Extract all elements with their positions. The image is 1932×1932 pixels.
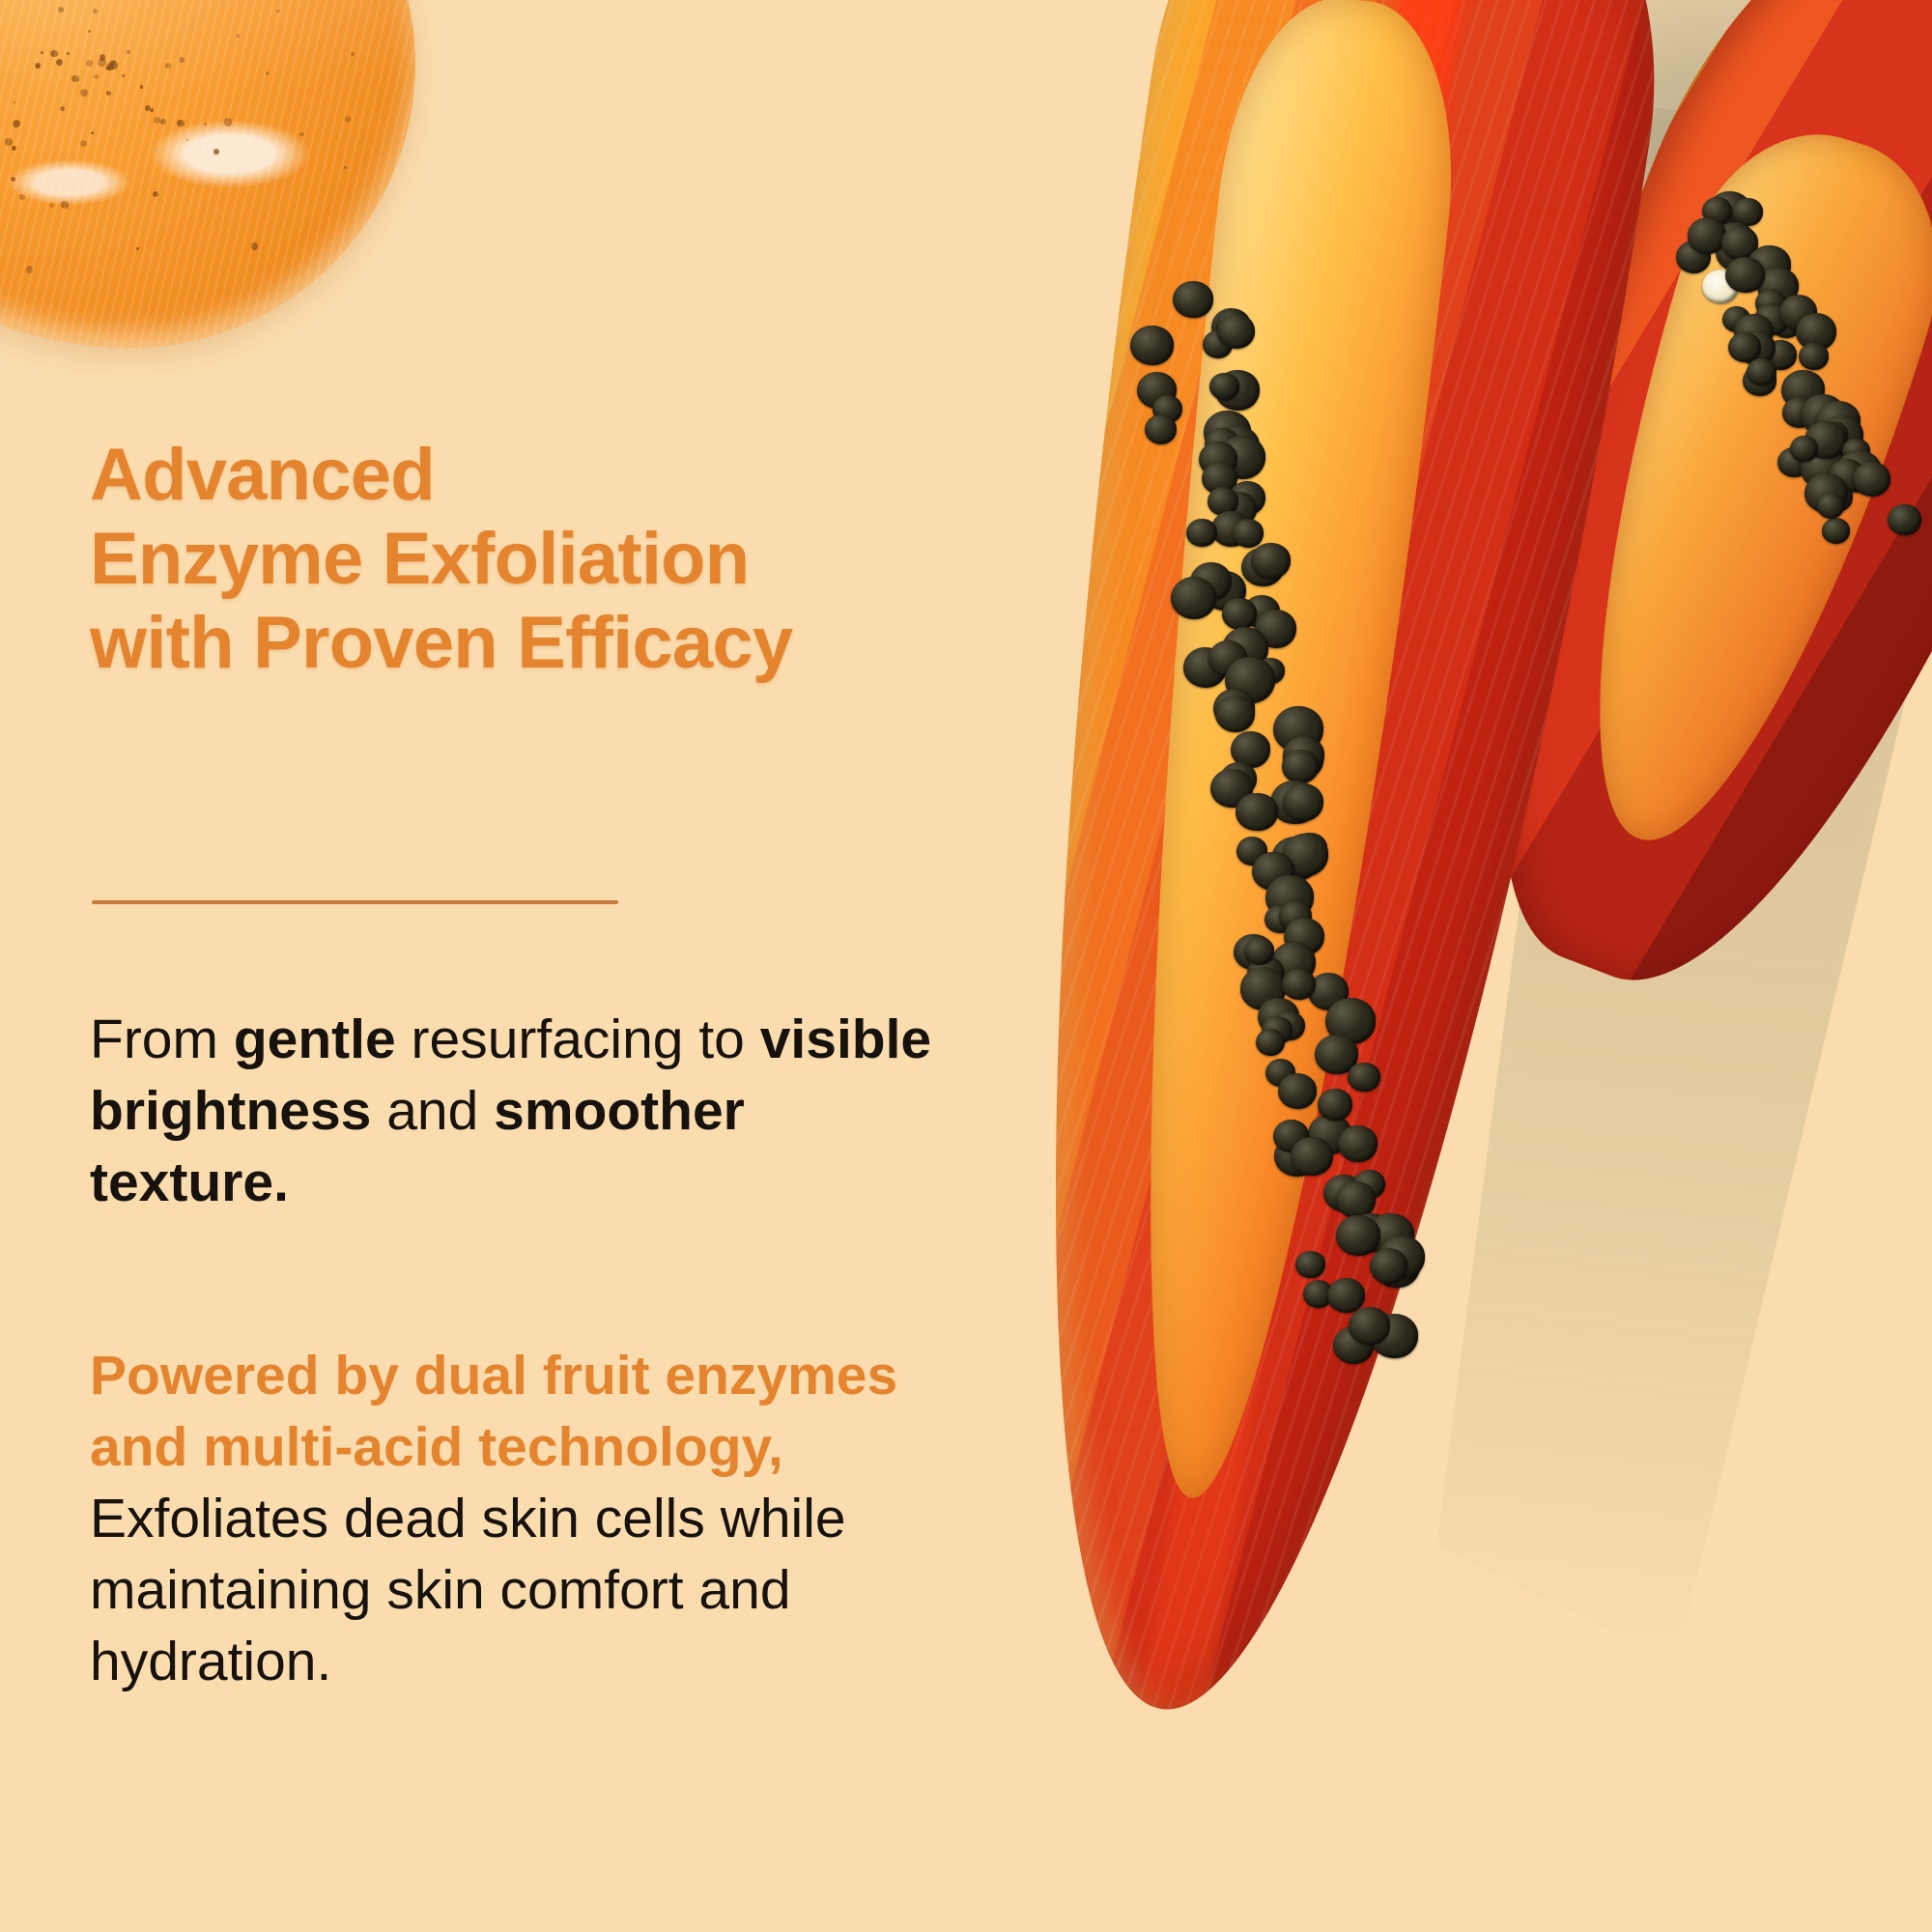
papaya-seed [1338,1125,1378,1162]
divider [92,900,618,904]
technology-paragraph: Powered by dual fruit enzymes and multi-… [90,1340,940,1697]
benefit-text-3: and [371,1080,494,1142]
benefit-text-2: resurfacing to [396,1009,760,1070]
papaya-seed [1278,1073,1317,1109]
papaya-seed [1251,543,1291,579]
papaya-seed [1222,598,1257,631]
papaya-seed [1349,1307,1390,1345]
headline-line-2: Enzyme Exfoliation [90,517,959,601]
papaya-seed [1215,696,1255,732]
technology-body: Exfoliates dead skin cells while maintai… [90,1488,846,1692]
papaya-seed [1291,1137,1333,1176]
papaya-seed [1236,793,1277,832]
papaya-seed [1295,1251,1325,1278]
papaya-seed [1209,373,1239,400]
headline-line-1: Advanced [90,433,959,517]
papaya-seed [1282,750,1318,782]
benefit-paragraph: From gentle resurfacing to visible brigh… [90,1004,940,1218]
papaya-seed [1348,1063,1379,1093]
papaya-seed [1217,314,1254,348]
papaya-seed [1130,326,1174,365]
headline-line-3: with Proven Efficacy [90,601,959,685]
papaya-seed [1171,577,1216,618]
papaya-seed [1244,937,1274,965]
papaya-seed [1186,519,1217,547]
papaya-seed [1327,1278,1365,1313]
papaya-seed [1145,414,1177,444]
papaya-seed [1318,1089,1352,1121]
papaya-seed [1233,519,1264,548]
papaya-seed [1256,1029,1285,1056]
promo-canvas: Advanced Enzyme Exfoliation with Proven … [0,0,1932,1932]
papaya-seed [1282,969,1316,1000]
benefit-bold-gentle: gentle [234,1009,396,1070]
papaya-seed [1173,281,1213,319]
page-title: Advanced Enzyme Exfoliation with Proven … [90,433,959,685]
papaya-seed [1370,1248,1408,1283]
papaya-seed [1336,1215,1380,1256]
papaya-seed [1283,783,1323,821]
technology-lead-in: Powered by dual fruit enzymes and multi-… [90,1345,897,1478]
benefit-text-1: From [90,1009,234,1070]
copy-block: Advanced Enzyme Exfoliation with Proven … [0,0,1005,1932]
